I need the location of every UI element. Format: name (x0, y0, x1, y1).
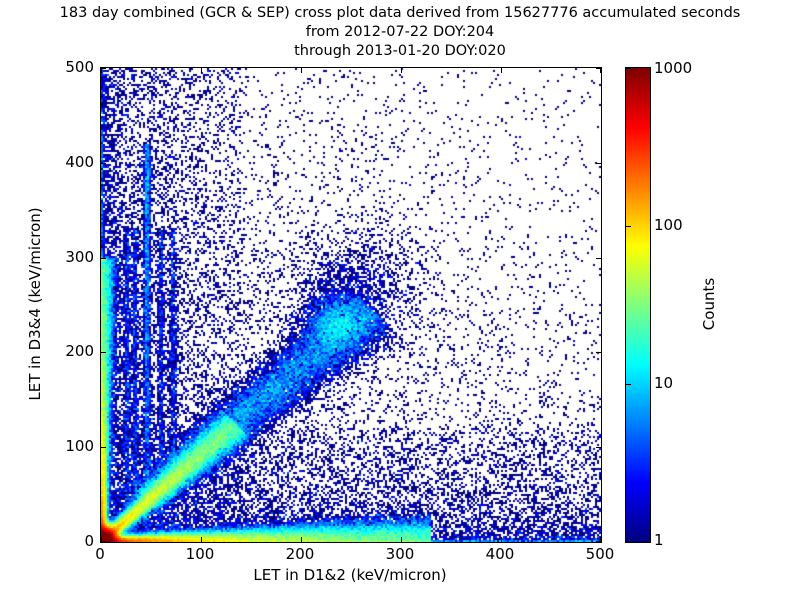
x-tick-bottom-4 (501, 537, 502, 542)
x-axis-label: LET in D1&2 (keV/micron) (100, 566, 600, 584)
figure-canvas: 183 day combined (GCR & SEP) cross plot … (0, 0, 800, 600)
y-tick-right-5 (596, 68, 601, 69)
title-line-2: from 2012-07-22 DOY:204 (0, 23, 800, 42)
x-tick-label-2: 200 (286, 545, 315, 563)
title-line-1: 183 day combined (GCR & SEP) cross plot … (0, 4, 800, 23)
x-tick-top-1 (201, 68, 202, 73)
y-axis-label: LET in D3&4 (keV/micron) (26, 67, 48, 541)
y-tick-right-2 (596, 352, 601, 353)
x-tick-label-1: 100 (186, 545, 215, 563)
y-tick-right-4 (596, 163, 601, 164)
colorbar-tick-label-0: 1 (654, 531, 664, 549)
colorbar-tick-label-1: 10 (654, 374, 673, 392)
colorbar (625, 67, 651, 543)
y-tick-left-4 (101, 163, 106, 164)
x-tick-label-3: 300 (386, 545, 415, 563)
y-tick-left-3 (101, 258, 106, 259)
colorbar-gradient (626, 68, 650, 542)
scatter-density-canvas (101, 68, 601, 542)
x-tick-label-4: 400 (486, 545, 515, 563)
colorbar-tick-2 (626, 226, 631, 227)
y-tick-left-5 (101, 68, 106, 69)
x-tick-label-0: 0 (95, 545, 105, 563)
y-tick-label-0: 0 (84, 532, 94, 550)
y-tick-right-3 (596, 258, 601, 259)
colorbar-tick-3 (626, 68, 631, 69)
y-tick-right-1 (596, 447, 601, 448)
y-tick-left-0 (101, 541, 106, 542)
figure-title: 183 day combined (GCR & SEP) cross plot … (0, 4, 800, 61)
x-tick-bottom-2 (301, 537, 302, 542)
x-tick-bottom-1 (201, 537, 202, 542)
y-tick-label-1: 100 (65, 437, 94, 455)
colorbar-tick-1 (626, 384, 631, 385)
colorbar-tick-label-3: 1000 (654, 59, 692, 77)
y-tick-right-0 (596, 541, 601, 542)
colorbar-tick-0 (626, 541, 631, 542)
y-tick-label-5: 500 (65, 58, 94, 76)
x-tick-top-2 (301, 68, 302, 73)
y-tick-label-2: 200 (65, 342, 94, 360)
y-tick-label-3: 300 (65, 248, 94, 266)
scatter-plot-axes (100, 67, 602, 543)
colorbar-tick-label-2: 100 (654, 216, 683, 234)
y-tick-left-2 (101, 352, 106, 353)
colorbar-axis-label: Counts (700, 67, 722, 541)
x-tick-top-4 (501, 68, 502, 73)
y-tick-label-4: 400 (65, 153, 94, 171)
x-tick-bottom-3 (401, 537, 402, 542)
x-tick-top-3 (401, 68, 402, 73)
x-tick-label-5: 500 (586, 545, 615, 563)
y-tick-left-1 (101, 447, 106, 448)
